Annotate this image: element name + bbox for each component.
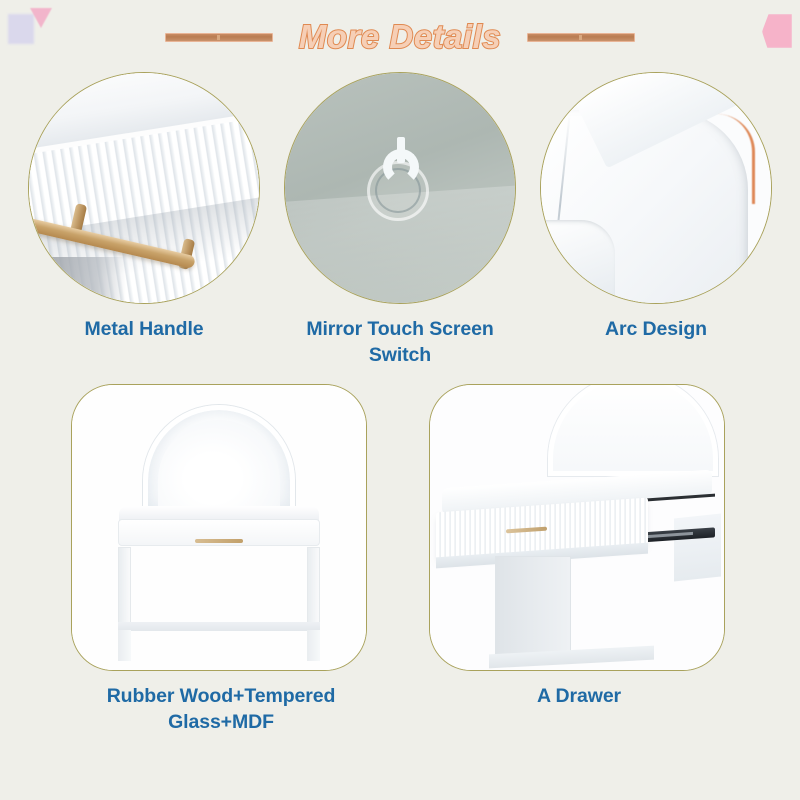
feature-item-mirror-touch-switch: Mirror Touch Screen Switch bbox=[278, 72, 522, 368]
panel-row: Rubber Wood+Tempered Glass+MDF A Drawer bbox=[0, 384, 800, 735]
vanity-lower-shelf bbox=[118, 622, 321, 632]
fluted-drawer-illustration bbox=[29, 73, 259, 303]
page-header: More Details bbox=[0, 0, 800, 70]
feature-item-metal-handle: Metal Handle bbox=[22, 72, 266, 368]
arc-highlight-icon bbox=[717, 114, 755, 204]
drawer-scene-pedestal bbox=[495, 556, 571, 659]
arc-corner-illustration bbox=[541, 73, 771, 303]
touch-switch-illustration bbox=[361, 135, 439, 223]
mirror-surface-illustration bbox=[285, 73, 515, 303]
vanity-desk-illustration bbox=[72, 385, 366, 670]
feature-caption-mirror-touch-switch: Mirror Touch Screen Switch bbox=[278, 316, 522, 368]
panel-caption-a-drawer: A Drawer bbox=[429, 683, 729, 709]
panel-image-a-drawer bbox=[429, 384, 725, 671]
power-icon-stem bbox=[397, 137, 405, 163]
panel-item-materials: Rubber Wood+Tempered Glass+MDF bbox=[71, 384, 371, 735]
panel-image-materials bbox=[71, 384, 367, 671]
title-rule-left-icon bbox=[165, 33, 273, 42]
drawer-scene-side-panel bbox=[674, 514, 721, 582]
drawer-dark-edge bbox=[29, 257, 126, 303]
feature-circle-row: Metal Handle Mirror Touch Screen Switch bbox=[0, 72, 800, 368]
drawer-scene-mirror bbox=[548, 384, 719, 476]
open-drawer-illustration bbox=[430, 385, 724, 670]
feature-image-arc-design bbox=[540, 72, 772, 304]
vanity-foot-left bbox=[118, 630, 131, 661]
feature-caption-metal-handle: Metal Handle bbox=[22, 316, 266, 342]
feature-caption-arc-design: Arc Design bbox=[534, 316, 778, 342]
arc-lower-left-corner bbox=[540, 220, 615, 298]
feature-image-mirror-touch-switch bbox=[284, 72, 516, 304]
page-title: More Details bbox=[299, 18, 501, 56]
vanity-foot-right bbox=[307, 630, 320, 661]
vanity-mirror-glass bbox=[158, 420, 281, 510]
title-rule-right-icon bbox=[527, 33, 635, 42]
feature-item-arc-design: Arc Design bbox=[534, 72, 778, 368]
feature-image-metal-handle bbox=[28, 72, 260, 304]
vanity-arched-mirror bbox=[143, 405, 296, 510]
vanity-drawer-handle-icon bbox=[195, 539, 242, 543]
panel-caption-materials: Rubber Wood+Tempered Glass+MDF bbox=[71, 683, 371, 735]
panel-item-a-drawer: A Drawer bbox=[429, 384, 729, 735]
